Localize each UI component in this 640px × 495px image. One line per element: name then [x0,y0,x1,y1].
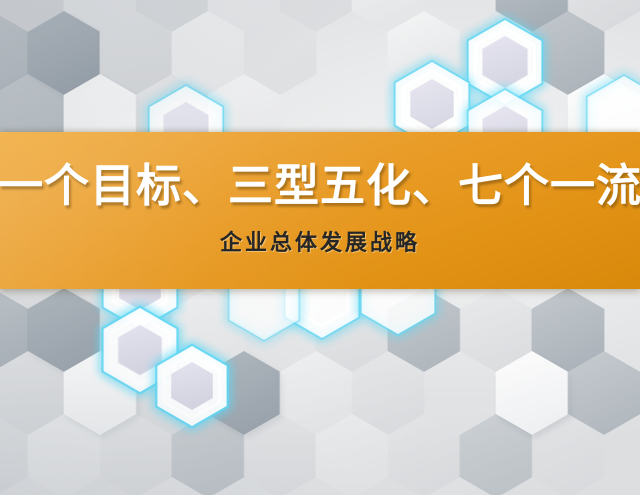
title-banner: “一个目标、三型五化、七个一流” 企业总体发展战略 [0,132,640,289]
title-slide: “一个目标、三型五化、七个一流” 企业总体发展战略 [0,0,640,495]
page-subtitle: 企业总体发展战略 [220,232,420,254]
page-title: “一个目标、三型五化、七个一流” [0,163,640,208]
